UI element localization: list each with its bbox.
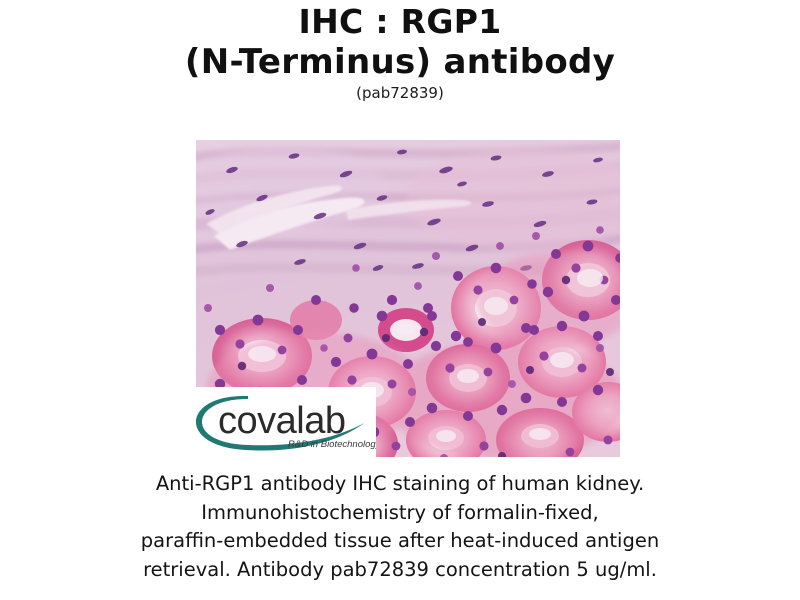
page-title-line-1: IHC : RGP1 — [0, 0, 800, 42]
page-title-line-2: (N-Terminus) antibody — [0, 42, 800, 83]
logo-wordmark-text: covalab — [218, 400, 345, 442]
caption-line-4: retrieval. Antibody pab72839 concentrati… — [60, 556, 740, 585]
covalab-logo: covalab R&D in Biotechnology — [196, 387, 376, 457]
caption-line-3: paraffin-embedded tissue after heat-indu… — [60, 527, 740, 556]
catalog-code: (pab72839) — [0, 83, 800, 102]
caption-line-2: Immunohistochemistry of formalin-fixed, — [60, 499, 740, 528]
title-block: IHC : RGP1 (N-Terminus) antibody (pab728… — [0, 0, 800, 102]
ihc-micrograph-image: covalab R&D in Biotechnology — [196, 140, 620, 457]
covalab-logo-svg: covalab R&D in Biotechnology — [196, 387, 376, 457]
logo-tagline-text: R&D in Biotechnology — [288, 439, 376, 450]
figure-caption: Anti-RGP1 antibody IHC staining of human… — [60, 470, 740, 584]
caption-line-1: Anti-RGP1 antibody IHC staining of human… — [60, 470, 740, 499]
